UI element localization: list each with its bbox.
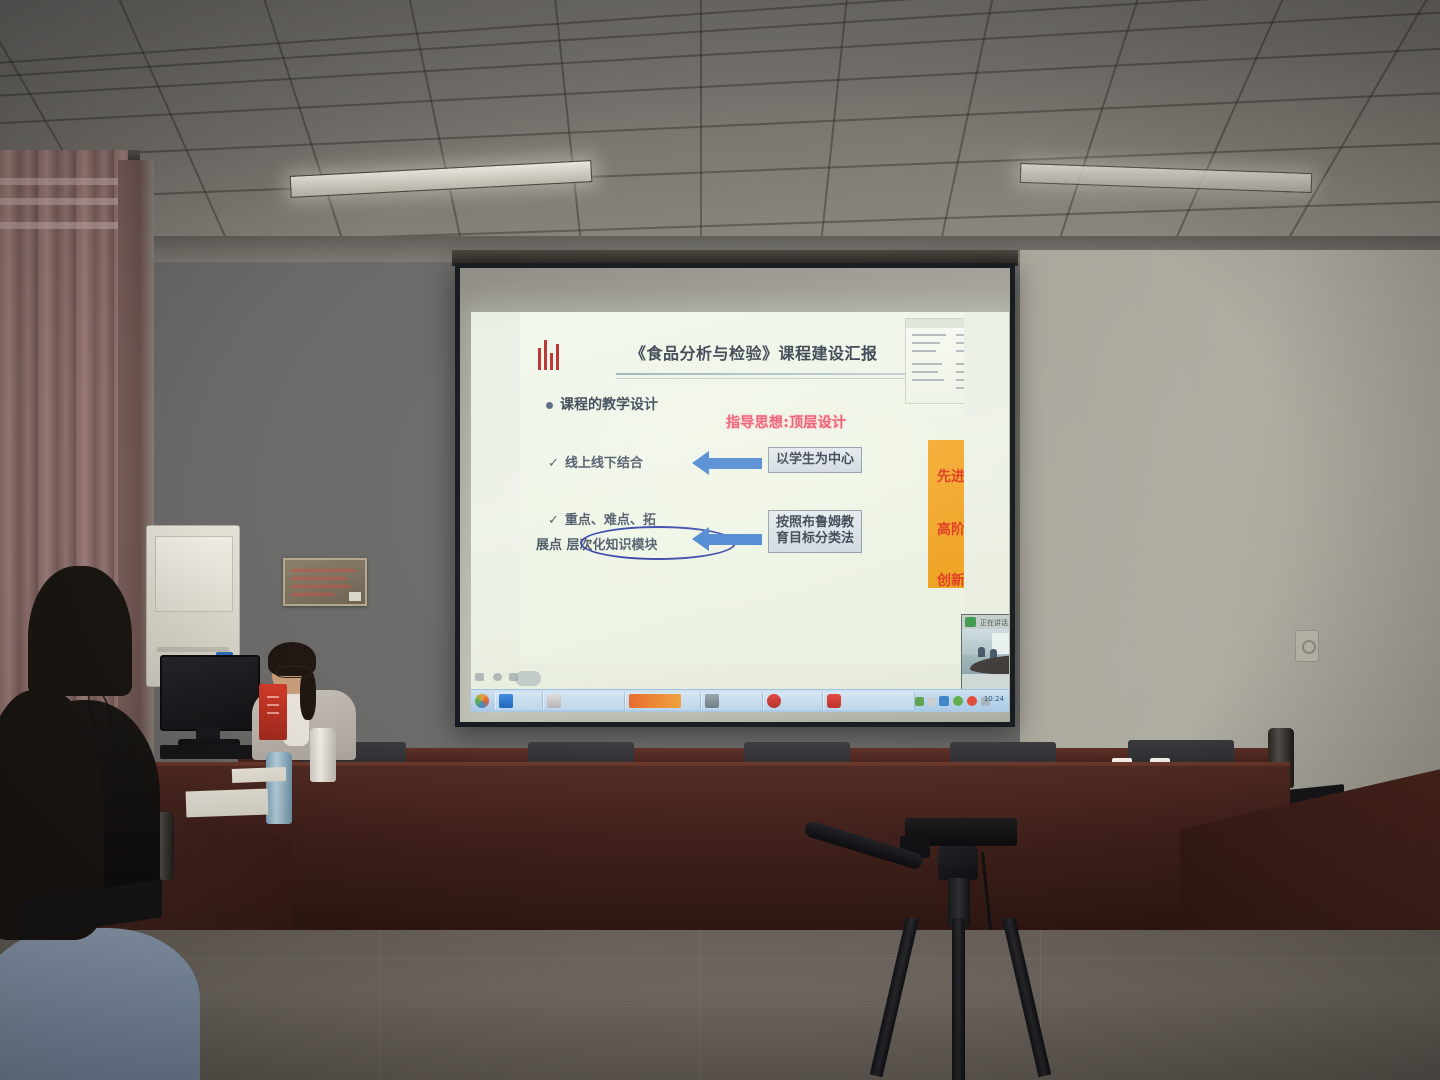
slide-bullet-main: 课程的教学设计 xyxy=(546,394,658,414)
document-icon[interactable] xyxy=(705,694,719,708)
wall-outlet xyxy=(1295,630,1319,662)
callout-box-1: 以学生为中心 xyxy=(768,447,862,473)
slide-bullet-main-label: 课程的教学设计 xyxy=(560,397,658,413)
photo-scene: 《食品分析与检验》课程建设汇报 课程的教学设计 指导思想:顶层设计 ✓线上线下结… xyxy=(0,0,1440,1080)
callout-box-2: 按照布鲁姆教 育目标分类法 xyxy=(768,510,862,553)
slide-logo-icon xyxy=(538,340,564,370)
powerpoint-icon[interactable] xyxy=(629,694,681,708)
attendee-1-shirt xyxy=(0,928,200,1080)
guiding-idea-text: 指导思想:顶层设计 xyxy=(726,412,846,432)
orange-attribute-band: 先进性 高阶性 创新性 xyxy=(928,440,964,588)
powerpoint-slide: 《食品分析与检验》课程建设汇报 课程的教学设计 指导思想:顶层设计 ✓线上线下结… xyxy=(520,312,964,664)
tripod-leg xyxy=(952,918,965,1080)
start-orb-icon[interactable] xyxy=(475,694,489,708)
overlapping-document-window[interactable] xyxy=(905,318,964,404)
thermos-flask xyxy=(310,728,336,782)
red-box-on-desk xyxy=(259,684,287,740)
tray-network-icon[interactable] xyxy=(915,697,924,706)
ceiling xyxy=(0,0,1440,258)
presenter-glasses xyxy=(276,666,311,678)
media-player-icon[interactable] xyxy=(827,694,841,708)
screen-surface: 《食品分析与检验》课程建设汇报 课程的教学设计 指导思想:顶层设计 ✓线上线下结… xyxy=(460,268,1010,722)
tray-volume-icon[interactable] xyxy=(927,697,936,706)
tray-sync-icon[interactable] xyxy=(953,696,963,706)
slide-check-label-2b: 展点 xyxy=(536,538,562,553)
band-item-2: 高阶性 xyxy=(928,519,964,539)
tripod-head xyxy=(938,846,978,880)
slide-check-item-2: ✓重点、难点、拓 xyxy=(548,509,656,528)
ceiling-tile-grid xyxy=(0,0,1440,258)
wps-icon[interactable] xyxy=(767,694,781,708)
thermos-flask xyxy=(266,752,292,824)
messenger-icon[interactable] xyxy=(499,694,513,708)
participant-icon xyxy=(965,617,976,627)
check-icon-2: ✓ xyxy=(548,513,559,528)
tray-shield-icon[interactable] xyxy=(939,696,949,706)
band-item-3: 创新性 xyxy=(928,570,964,590)
tray-antivirus-icon[interactable] xyxy=(967,696,977,706)
bullet-dot-icon xyxy=(546,402,553,409)
check-icon: ✓ xyxy=(548,456,559,471)
slide-title-rule-2 xyxy=(616,378,946,379)
video-feed xyxy=(962,629,1009,692)
slide-check-label-1: 线上线下结合 xyxy=(565,456,643,471)
slide-title-rule xyxy=(616,373,946,375)
right-wall xyxy=(1020,250,1440,810)
floor xyxy=(0,930,1440,1080)
band-item-1: 先进性 xyxy=(928,466,964,486)
slide-scrollbar[interactable] xyxy=(515,671,541,686)
callout-box-2-line1: 按照布鲁姆教 xyxy=(776,515,854,531)
folder-icon[interactable] xyxy=(547,694,561,708)
projected-desktop: 《食品分析与检验》课程建设汇报 课程的教学设计 指导思想:顶层设计 ✓线上线下结… xyxy=(471,312,1009,712)
attendee-2-head xyxy=(28,566,132,696)
papers-on-table xyxy=(232,767,286,783)
ac-panel xyxy=(155,536,233,612)
windows-taskbar[interactable]: 10:24 xyxy=(471,689,1009,712)
document-window-header xyxy=(906,319,964,328)
arrow-icon-2 xyxy=(708,534,762,545)
wall-plaque xyxy=(283,558,367,606)
slide-check-item-1: ✓线上线下结合 xyxy=(548,452,643,471)
taskbar-clock: 10:24 xyxy=(984,695,1004,703)
callout-box-2-line2: 育目标分类法 xyxy=(776,531,854,547)
projection-screen: 《食品分析与检验》课程建设汇报 课程的教学设计 指导思想:顶层设计 ✓线上线下结… xyxy=(455,263,1015,727)
remote-conference-table xyxy=(970,655,1009,675)
arrow-icon-1 xyxy=(708,458,762,469)
keyboard xyxy=(160,745,256,759)
papers-on-table xyxy=(186,789,269,818)
desktop-monitor xyxy=(160,655,260,731)
